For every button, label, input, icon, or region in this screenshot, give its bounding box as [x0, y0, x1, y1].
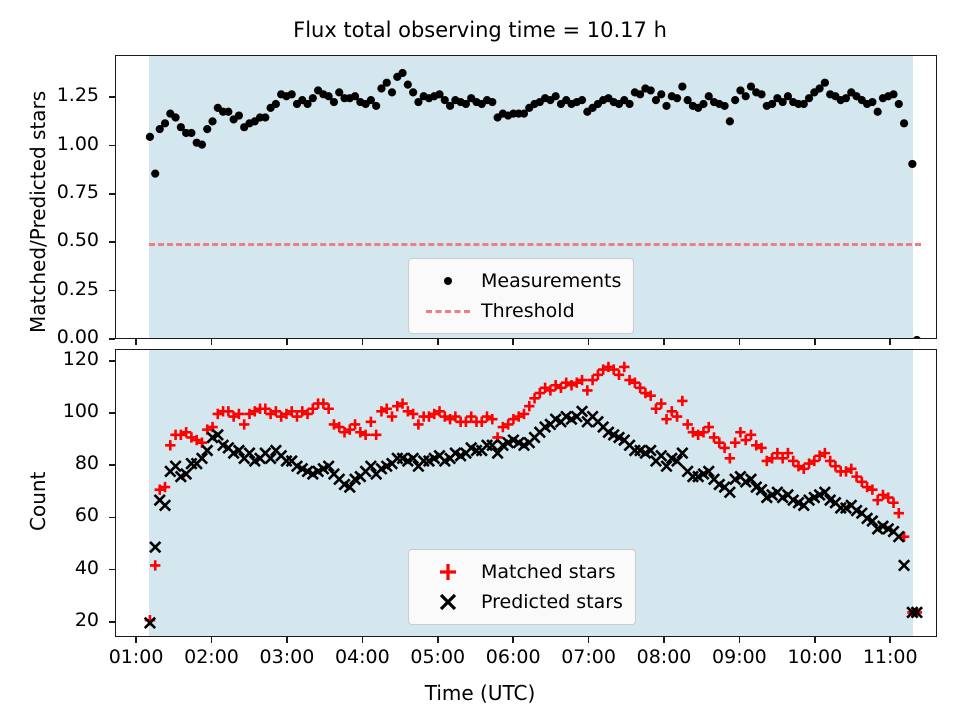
y-tick-label: 120 — [3, 348, 99, 370]
y-tick-label: 60 — [3, 504, 99, 526]
y-tick-mark — [109, 517, 115, 519]
x-tick-mark — [512, 637, 514, 643]
y-tick-label: 1.25 — [3, 84, 99, 106]
y-tick-label: 0.00 — [3, 326, 99, 348]
y-tick-mark — [109, 360, 115, 362]
point-marker-icon — [419, 277, 477, 285]
x-tick-mark — [739, 339, 741, 345]
legend-item-threshold: Threshold — [419, 296, 621, 326]
x-tick-mark — [135, 339, 137, 345]
x-tick-mark — [814, 339, 816, 345]
y-tick-label: 0.50 — [3, 229, 99, 251]
y-tick-label: 20 — [3, 609, 99, 631]
y-tick-mark — [109, 412, 115, 414]
x-tick-mark — [286, 339, 288, 345]
x-tick-label: 11:00 — [845, 646, 935, 668]
legend-item-matched-stars: Matched stars — [419, 557, 623, 587]
legend-label-predicted-stars: Predicted stars — [477, 591, 623, 613]
legend-label-threshold: Threshold — [477, 300, 575, 322]
x-tick-mark — [362, 637, 364, 643]
x-tick-mark — [588, 339, 590, 345]
y-tick-mark — [109, 96, 115, 98]
x-tick-mark — [814, 637, 816, 643]
legend-label-matched-stars: Matched stars — [477, 561, 615, 583]
legend-item-measurements: Measurements — [419, 266, 621, 296]
y-tick-label: 0.75 — [3, 181, 99, 203]
y-tick-label: 1.00 — [3, 133, 99, 155]
y-tick-mark — [109, 241, 115, 243]
y-tick-mark — [109, 145, 115, 147]
plus-marker-icon — [419, 561, 477, 583]
x-axis-label: Time (UTC) — [0, 681, 960, 705]
legend-label-measurements: Measurements — [477, 270, 621, 292]
x-tick-mark — [437, 339, 439, 345]
x-tick-mark — [512, 339, 514, 345]
cross-marker-icon — [419, 591, 477, 613]
x-tick-mark — [739, 637, 741, 643]
y-tick-mark — [109, 338, 115, 340]
y-tick-label: 80 — [3, 452, 99, 474]
x-tick-mark — [135, 637, 137, 643]
top-panel-legend: Measurements Threshold — [408, 258, 634, 334]
x-tick-mark — [362, 339, 364, 345]
x-tick-mark — [889, 339, 891, 345]
x-tick-mark — [211, 637, 213, 643]
dashed-line-icon — [419, 310, 477, 313]
y-tick-label: 100 — [3, 400, 99, 422]
x-tick-mark — [211, 339, 213, 345]
y-tick-label: 0.25 — [3, 278, 99, 300]
legend-item-predicted-stars: Predicted stars — [419, 587, 623, 617]
x-tick-mark — [663, 637, 665, 643]
x-tick-mark — [663, 339, 665, 345]
bottom-panel-legend: Matched stars Predicted stars — [408, 549, 636, 625]
figure-title: Flux total observing time = 10.17 h — [0, 18, 960, 42]
x-tick-mark — [437, 637, 439, 643]
y-tick-label: 40 — [3, 557, 99, 579]
figure-canvas: Flux total observing time = 10.17 h Matc… — [0, 0, 960, 720]
x-tick-mark — [588, 637, 590, 643]
x-tick-mark — [889, 637, 891, 643]
y-tick-mark — [109, 193, 115, 195]
x-tick-mark — [286, 637, 288, 643]
y-tick-mark — [109, 569, 115, 571]
y-tick-mark — [109, 464, 115, 466]
y-tick-mark — [109, 290, 115, 292]
y-tick-mark — [109, 621, 115, 623]
